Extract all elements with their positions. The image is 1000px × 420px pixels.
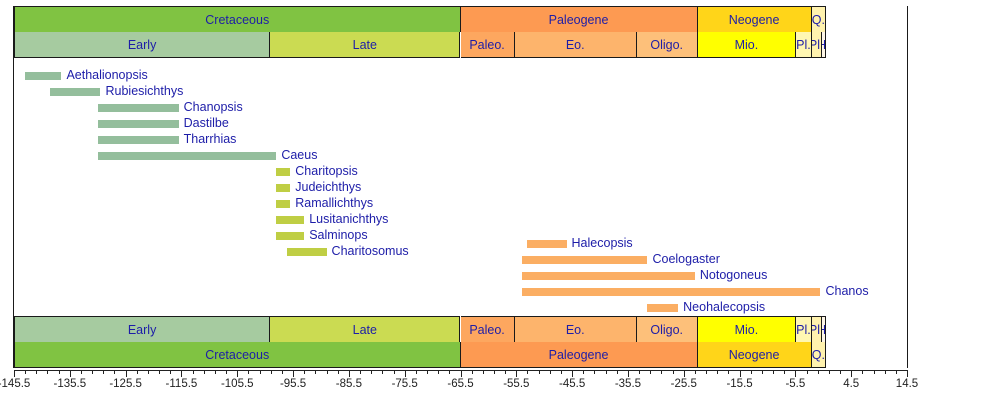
axis-tick-minor (807, 370, 808, 374)
axis-tick-minor (47, 370, 48, 374)
time-axis: -145.5-135.5-125.5-115.5-105.5-95.5-85.5… (0, 370, 1000, 400)
axis-tick-label: -45.5 (559, 378, 585, 390)
axis-tick-major (70, 370, 71, 377)
axis-tick-label: -135.5 (54, 378, 87, 390)
axis-tick-minor (661, 370, 662, 374)
axis-tick-minor (282, 370, 283, 374)
axis-tick-minor (762, 370, 763, 374)
axis-tick-minor (472, 370, 473, 374)
axis-tick-minor (394, 370, 395, 374)
axis-tick-major (14, 370, 15, 377)
axis-tick-label: -35.5 (615, 378, 641, 390)
axis-tick-major (684, 370, 685, 377)
axis-tick-minor (438, 370, 439, 374)
axis-tick-major (461, 370, 462, 377)
axis-tick-major (740, 370, 741, 377)
axis-tick-minor (315, 370, 316, 374)
axis-tick-minor (248, 370, 249, 374)
axis-tick-minor (304, 370, 305, 374)
axis-tick-minor (103, 370, 104, 374)
axis-tick-major (349, 370, 350, 377)
axis-tick-minor (673, 370, 674, 374)
axis-tick-label: 14.5 (896, 378, 918, 390)
axis-tick-minor (695, 370, 696, 374)
axis-tick-minor (260, 370, 261, 374)
axis-tick-minor (360, 370, 361, 374)
axis-tick-minor (773, 370, 774, 374)
axis-tick-major (851, 370, 852, 377)
axis-tick-minor (639, 370, 640, 374)
axis-tick-major (795, 370, 796, 377)
axis-tick-minor (25, 370, 26, 374)
axis-tick-minor (606, 370, 607, 374)
axis-tick-minor (382, 370, 383, 374)
axis-tick-minor (81, 370, 82, 374)
axis-tick-major (572, 370, 573, 377)
axis-tick-label: -65.5 (447, 378, 473, 390)
axis-tick-minor (193, 370, 194, 374)
axis-tick-minor (427, 370, 428, 374)
axis-tick-minor (829, 370, 830, 374)
axis-tick-label: -25.5 (671, 378, 697, 390)
axis-tick-major (126, 370, 127, 377)
axis-tick-minor (539, 370, 540, 374)
geologic-range-chart: CretaceousPaleogeneNeogeneQ. EarlyLatePa… (0, 0, 1000, 420)
axis-tick-major (628, 370, 629, 377)
axis-tick-minor (617, 370, 618, 374)
axis-tick-minor (416, 370, 417, 374)
axis-tick-major (516, 370, 517, 377)
axis-tick-major (907, 370, 908, 377)
axis-tick-minor (449, 370, 450, 374)
axis-tick-minor (784, 370, 785, 374)
axis-tick-label: -85.5 (336, 378, 362, 390)
axis-tick-minor (170, 370, 171, 374)
axis-tick-minor (706, 370, 707, 374)
axis-tick-minor (204, 370, 205, 374)
axis-tick-minor (818, 370, 819, 374)
axis-tick-minor (885, 370, 886, 374)
axis-tick-label: -95.5 (280, 378, 306, 390)
axis-tick-minor (271, 370, 272, 374)
axis-tick-major (293, 370, 294, 377)
axis-tick-minor (896, 370, 897, 374)
axis-tick-minor (862, 370, 863, 374)
axis-tick-minor (59, 370, 60, 374)
axis-tick-minor (327, 370, 328, 374)
plot-frame (13, 6, 908, 368)
axis-tick-label: -145.5 (0, 378, 30, 390)
axis-tick-label: -75.5 (392, 378, 418, 390)
axis-tick-minor (527, 370, 528, 374)
axis-tick-minor (159, 370, 160, 374)
axis-tick-major (181, 370, 182, 377)
axis-tick-minor (114, 370, 115, 374)
axis-tick-minor (494, 370, 495, 374)
axis-tick-minor (840, 370, 841, 374)
axis-tick-minor (583, 370, 584, 374)
axis-tick-minor (148, 370, 149, 374)
axis-tick-label: -55.5 (503, 378, 529, 390)
axis-tick-label: -105.5 (221, 378, 254, 390)
axis-tick-minor (650, 370, 651, 374)
axis-tick-minor (483, 370, 484, 374)
axis-tick-minor (338, 370, 339, 374)
axis-tick-minor (505, 370, 506, 374)
axis-tick-minor (717, 370, 718, 374)
axis-tick-minor (92, 370, 93, 374)
axis-tick-major (405, 370, 406, 377)
axis-tick-minor (594, 370, 595, 374)
axis-tick-minor (874, 370, 875, 374)
axis-tick-minor (561, 370, 562, 374)
axis-tick-label: 4.5 (843, 378, 859, 390)
axis-tick-minor (550, 370, 551, 374)
axis-tick-major (237, 370, 238, 377)
axis-tick-label: -125.5 (109, 378, 142, 390)
axis-tick-minor (728, 370, 729, 374)
axis-tick-label: -15.5 (726, 378, 752, 390)
axis-tick-minor (137, 370, 138, 374)
axis-tick-minor (751, 370, 752, 374)
axis-tick-minor (371, 370, 372, 374)
axis-tick-label: -5.5 (785, 378, 805, 390)
axis-tick-minor (215, 370, 216, 374)
axis-tick-label: -115.5 (166, 378, 198, 390)
axis-tick-minor (226, 370, 227, 374)
axis-tick-minor (36, 370, 37, 374)
